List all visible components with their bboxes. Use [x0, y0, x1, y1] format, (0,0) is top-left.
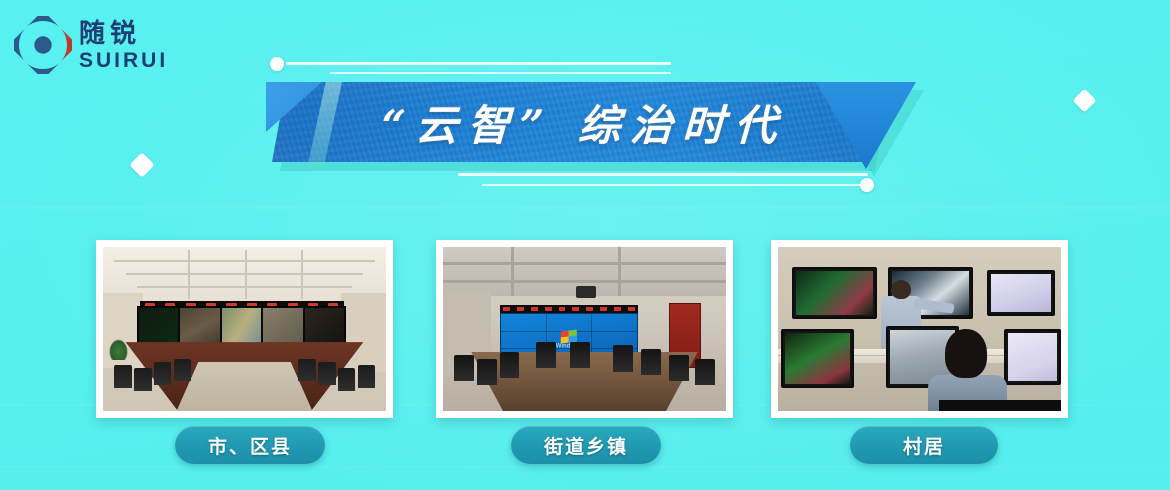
label-township[interactable]: 街道乡镇	[511, 426, 661, 464]
dot-top-left-icon	[270, 57, 284, 71]
brand-text: 随锐 SUIRUI	[79, 19, 168, 71]
bg-streak-1	[0, 206, 1170, 209]
label-city-district[interactable]: 市、区县	[175, 426, 325, 464]
card-label-group: 市、区县 街道乡镇 村居	[0, 426, 1170, 472]
city-district-command-center-photo	[103, 247, 386, 411]
township-meeting-room-photo: Windows	[443, 247, 726, 411]
brand-name-cn: 随锐	[79, 21, 168, 47]
diamond-right-icon	[1072, 88, 1096, 112]
photo-card-township[interactable]: Windows	[436, 240, 733, 418]
poster-stage: 随锐 SUIRUI “云智” 综治时代	[0, 0, 1170, 490]
title-block: “云智” 综治时代	[258, 56, 948, 191]
photo-card-city-district[interactable]	[96, 240, 393, 418]
title-banner: “云智” 综治时代	[272, 82, 882, 162]
brand-name-en: SUIRUI	[79, 50, 168, 71]
decor-line-top-2	[330, 72, 671, 74]
page-title: “云智” 综治时代	[270, 82, 883, 162]
pinwheel-diamond-icon	[14, 16, 72, 74]
decor-line-top-1	[286, 62, 671, 65]
brand-logo: 随锐 SUIRUI	[14, 14, 194, 76]
photo-card-group: Windows	[0, 238, 1170, 428]
photo-card-village[interactable]	[771, 240, 1068, 418]
dot-bottom-right-icon	[860, 178, 874, 192]
diamond-left-icon	[129, 152, 154, 177]
village-monitoring-room-photo	[778, 247, 1061, 411]
decor-line-bottom-2	[482, 184, 865, 186]
decor-line-bottom-1	[458, 173, 868, 176]
label-village[interactable]: 村居	[850, 426, 998, 464]
